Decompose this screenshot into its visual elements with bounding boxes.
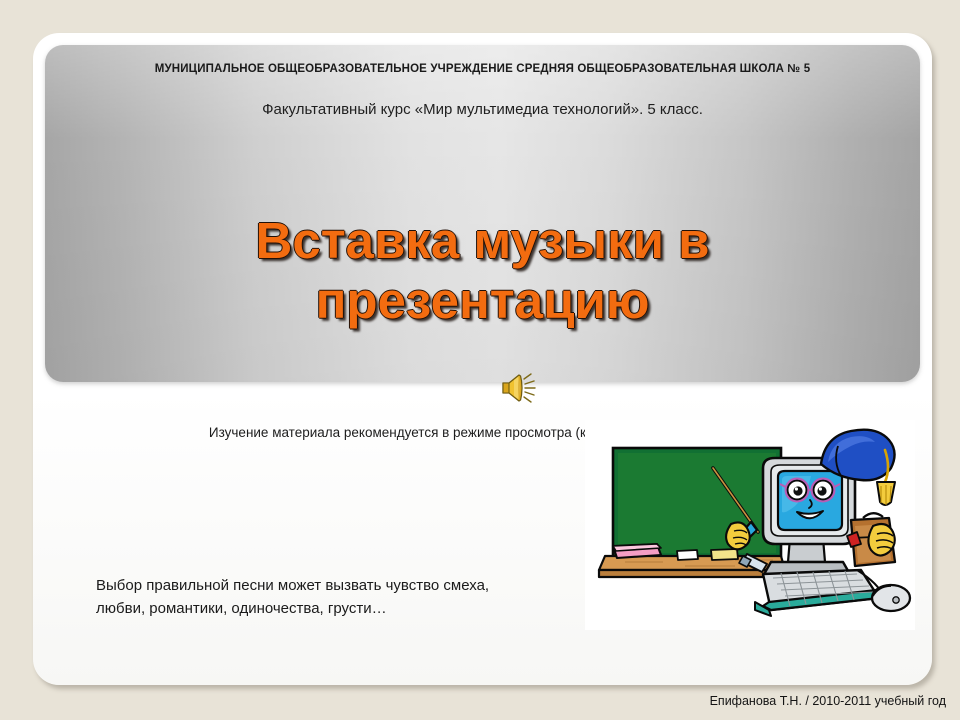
- footer-credit: Епифанова Т.Н. / 2010-2011 учебный год: [710, 694, 946, 708]
- chalkboard: [613, 448, 781, 558]
- course-subheading: Факультативный курс «Мир мультимедиа тех…: [33, 101, 932, 118]
- cartoon-computer-teacher-clipart: [585, 420, 915, 630]
- briefcase: [847, 513, 895, 566]
- speaker-sound-icon-glyph: [495, 371, 543, 405]
- slide-canvas: МУНИЦИПАЛЬНОЕ ОБЩЕОБРАЗОВАТЕЛЬНОЕ УЧРЕЖД…: [0, 0, 960, 720]
- body-paragraph: Выбор правильной песни может вызвать чув…: [96, 575, 536, 621]
- speaker-sound-icon[interactable]: [495, 371, 543, 405]
- pointer-hand: [726, 522, 750, 549]
- page-title: Вставка музыки в презентацию: [33, 211, 932, 331]
- clipart-illustration: [585, 420, 915, 630]
- slide-card: МУНИЦИПАЛЬНОЕ ОБЩЕОБРАЗОВАТЕЛЬНОЕ УЧРЕЖД…: [33, 33, 932, 685]
- school-name-heading: МУНИЦИПАЛЬНОЕ ОБЩЕОБРАЗОВАТЕЛЬНОЕ УЧРЕЖД…: [33, 63, 932, 75]
- eraser: [613, 544, 661, 558]
